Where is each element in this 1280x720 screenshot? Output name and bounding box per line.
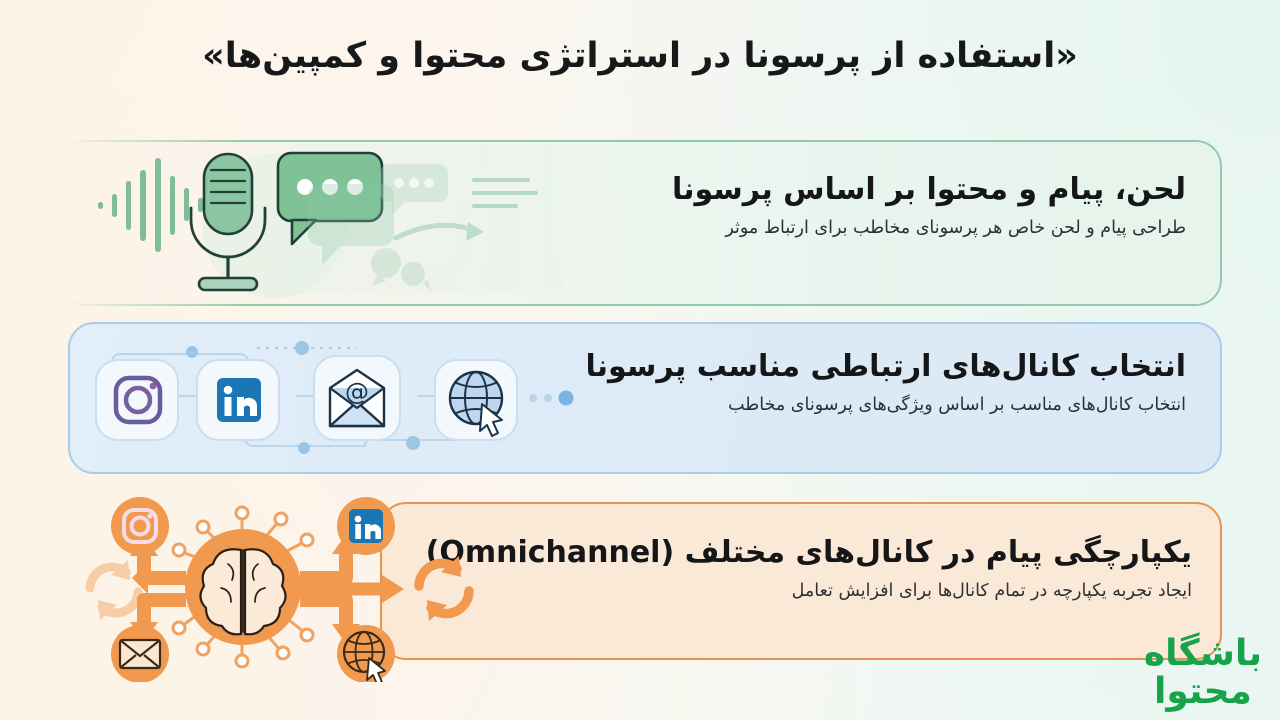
tone-illustration-svg — [96, 138, 566, 308]
instagram-icon[interactable] — [96, 360, 178, 440]
card-channels-title: انتخاب کانال‌های ارتباطی مناسب پرسونا — [586, 348, 1186, 386]
brand-logo[interactable]: باشگاه محتوا — [1144, 636, 1262, 710]
refresh-cycle-icon-faded — [90, 560, 138, 620]
page-title: «استفاده از پرسونا در استراتژی محتوا و ک… — [0, 36, 1280, 76]
card-omnichannel[interactable]: یکپارچگی پیام در کانال‌های مختلف (Omnich… — [380, 502, 1222, 660]
card-tone-subtitle: طراحی پیام و لحن خاص هر پرسونای مخاطب بر… — [672, 215, 1186, 241]
card-omni-title: یکپارچگی پیام در کانال‌های مختلف (Omnich… — [426, 534, 1192, 572]
illustration-tone — [96, 138, 566, 308]
card-tone-title: لحن، پیام و محتوا بر اساس پرسونا — [672, 171, 1186, 209]
sound-wave-icon — [98, 158, 203, 252]
card-omni-text: یکپارچگی پیام در کانال‌های مختلف (Omnich… — [426, 534, 1192, 605]
card-tone-text: لحن، پیام و محتوا بر اساس پرسونا طراحی پ… — [672, 171, 1186, 242]
linkedin-icon[interactable] — [337, 497, 395, 555]
brand-logo-line2: محتوا — [1144, 674, 1262, 710]
card-channels-text: انتخاب کانال‌های ارتباطی مناسب پرسونا ان… — [586, 348, 1186, 419]
refresh-cycle-icon — [419, 556, 469, 621]
omni-illustration-svg — [78, 492, 498, 682]
card-omni-subtitle: ایجاد تجربه یکپارچه در تمام کانال‌ها برا… — [426, 578, 1192, 604]
globe-cursor-icon[interactable] — [337, 625, 395, 682]
instagram-icon[interactable] — [111, 497, 169, 555]
linkedin-icon[interactable] — [197, 360, 279, 440]
infographic-page: «استفاده از پرسونا در استراتژی محتوا و ک… — [0, 0, 1280, 720]
brain-icon — [185, 529, 301, 645]
illustration-channels: @ — [80, 330, 580, 470]
brand-logo-line1: باشگاه — [1144, 636, 1262, 672]
node-dots-icon — [529, 391, 574, 406]
email-at-icon[interactable]: @ — [314, 356, 400, 440]
channels-illustration-svg: @ — [80, 330, 580, 470]
globe-cursor-icon[interactable] — [435, 360, 517, 440]
card-channels-subtitle: انتخاب کانال‌های مناسب بر اساس ویژگی‌های… — [586, 392, 1186, 418]
illustration-omnichannel — [78, 492, 498, 682]
at-symbol: @ — [345, 378, 369, 406]
email-icon[interactable] — [111, 625, 169, 682]
